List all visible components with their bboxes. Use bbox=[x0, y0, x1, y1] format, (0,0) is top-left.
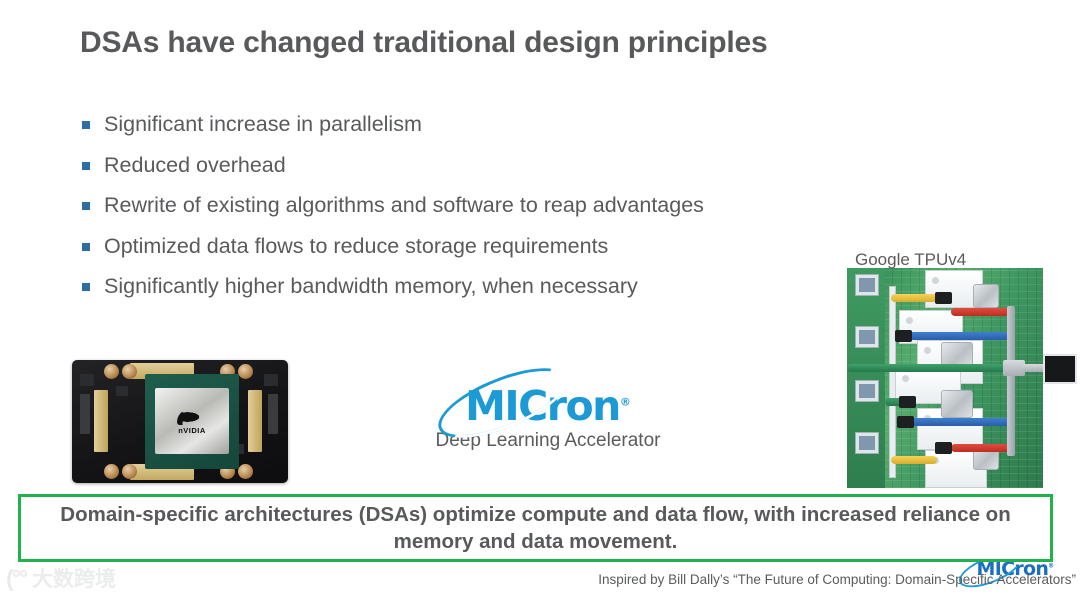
nv-mount-hole bbox=[238, 364, 253, 379]
square-bullet-icon bbox=[82, 202, 90, 210]
nv-gold-pad bbox=[94, 390, 108, 452]
tpu-cable-red bbox=[951, 308, 1013, 316]
nv-component bbox=[80, 394, 90, 434]
bullet-text: Rewrite of existing algorithms and softw… bbox=[104, 191, 704, 219]
nv-component bbox=[268, 394, 278, 434]
tpu-cable-red bbox=[951, 444, 1013, 452]
watermark-text: 大数跨境 bbox=[32, 563, 116, 593]
square-bullet-icon bbox=[82, 283, 90, 291]
tpu-cable-plug bbox=[899, 396, 916, 408]
tpu-cable-yellow bbox=[891, 294, 937, 302]
watermark-logo-icon: (°° bbox=[6, 565, 26, 592]
nv-gold-pad bbox=[248, 390, 262, 452]
watermark: (°° 大数跨境 bbox=[6, 562, 186, 594]
tpu-cable-stub bbox=[1023, 364, 1045, 372]
micron-dla-logo-block: MICron® Deep Learning Accelerator bbox=[428, 376, 668, 452]
tpu-cable-plug bbox=[897, 416, 914, 428]
tpu-image-label: Google TPUv4 bbox=[855, 250, 966, 270]
summary-callout-box: Domain-specific architectures (DSAs) opt… bbox=[18, 494, 1053, 562]
tpu-heat-spreader bbox=[941, 390, 973, 418]
list-item: Rewrite of existing algorithms and softw… bbox=[82, 191, 882, 219]
tpu-connector bbox=[855, 274, 879, 296]
tpu-bulkhead bbox=[1003, 360, 1025, 376]
bullet-text: Significantly higher bandwidth memory, w… bbox=[104, 272, 638, 300]
tpu-connector bbox=[855, 432, 879, 454]
nv-component bbox=[116, 386, 128, 396]
page-title: DSAs have changed traditional design pri… bbox=[80, 26, 960, 60]
nv-component bbox=[264, 374, 278, 386]
bullet-text: Optimized data flows to reduce storage r… bbox=[104, 232, 608, 260]
nv-mount-hole bbox=[122, 364, 137, 379]
bullet-text: Significant increase in parallelism bbox=[104, 110, 422, 138]
nv-mount-hole bbox=[238, 464, 253, 479]
list-item: Significant increase in parallelism bbox=[82, 110, 882, 138]
nvidia-wordmark: nVIDIA bbox=[177, 426, 207, 435]
tpu-external-connector bbox=[1043, 354, 1077, 384]
square-bullet-icon bbox=[82, 162, 90, 170]
tpu-rail bbox=[1007, 306, 1015, 456]
tpu-cable-yellow bbox=[891, 456, 937, 464]
list-item: Significantly higher bandwidth memory, w… bbox=[82, 272, 882, 300]
list-item: Optimized data flows to reduce storage r… bbox=[82, 232, 882, 260]
nv-gpu-die: nVIDIA bbox=[155, 388, 229, 454]
nv-component bbox=[80, 374, 94, 386]
bullet-text: Reduced overhead bbox=[104, 151, 286, 179]
square-bullet-icon bbox=[82, 121, 90, 129]
registered-mark: ® bbox=[1048, 563, 1053, 570]
nv-gpu-package: nVIDIA bbox=[145, 374, 239, 469]
registered-mark: ® bbox=[620, 395, 631, 408]
nvidia-logo: nVIDIA bbox=[177, 409, 207, 435]
tpu-cable-green bbox=[847, 364, 1011, 372]
micron-logo: MICron® bbox=[428, 376, 668, 428]
summary-callout-text: Domain-specific architectures (DSAs) opt… bbox=[21, 501, 1050, 555]
nv-mount-hole bbox=[122, 464, 137, 479]
slide-canvas: DSAs have changed traditional design pri… bbox=[0, 0, 1080, 596]
nvidia-eye-icon bbox=[177, 409, 207, 425]
tpu-cable-blue bbox=[909, 418, 1013, 426]
tpu-heat-spreader bbox=[973, 284, 999, 308]
tpu-left-edge bbox=[847, 268, 885, 488]
tpu-cable-plug bbox=[935, 292, 952, 304]
tpu-connector bbox=[855, 380, 879, 402]
tpu-cable-plug bbox=[935, 442, 952, 454]
nvidia-accelerator-image: nVIDIA bbox=[72, 360, 288, 483]
bullet-list: Significant increase in parallelism Redu… bbox=[82, 110, 882, 313]
tpu-cable-blue bbox=[909, 332, 1013, 340]
nv-mount-hole bbox=[104, 364, 119, 379]
nv-mount-hole bbox=[104, 464, 119, 479]
tpu-cable-plug bbox=[895, 330, 912, 342]
square-bullet-icon bbox=[82, 243, 90, 251]
list-item: Reduced overhead bbox=[82, 151, 882, 179]
callout-line-1: Domain-specific architectures (DSAs) opt… bbox=[60, 503, 795, 526]
google-tpuv4-board-image bbox=[847, 268, 1080, 488]
tpu-connector bbox=[855, 326, 879, 348]
